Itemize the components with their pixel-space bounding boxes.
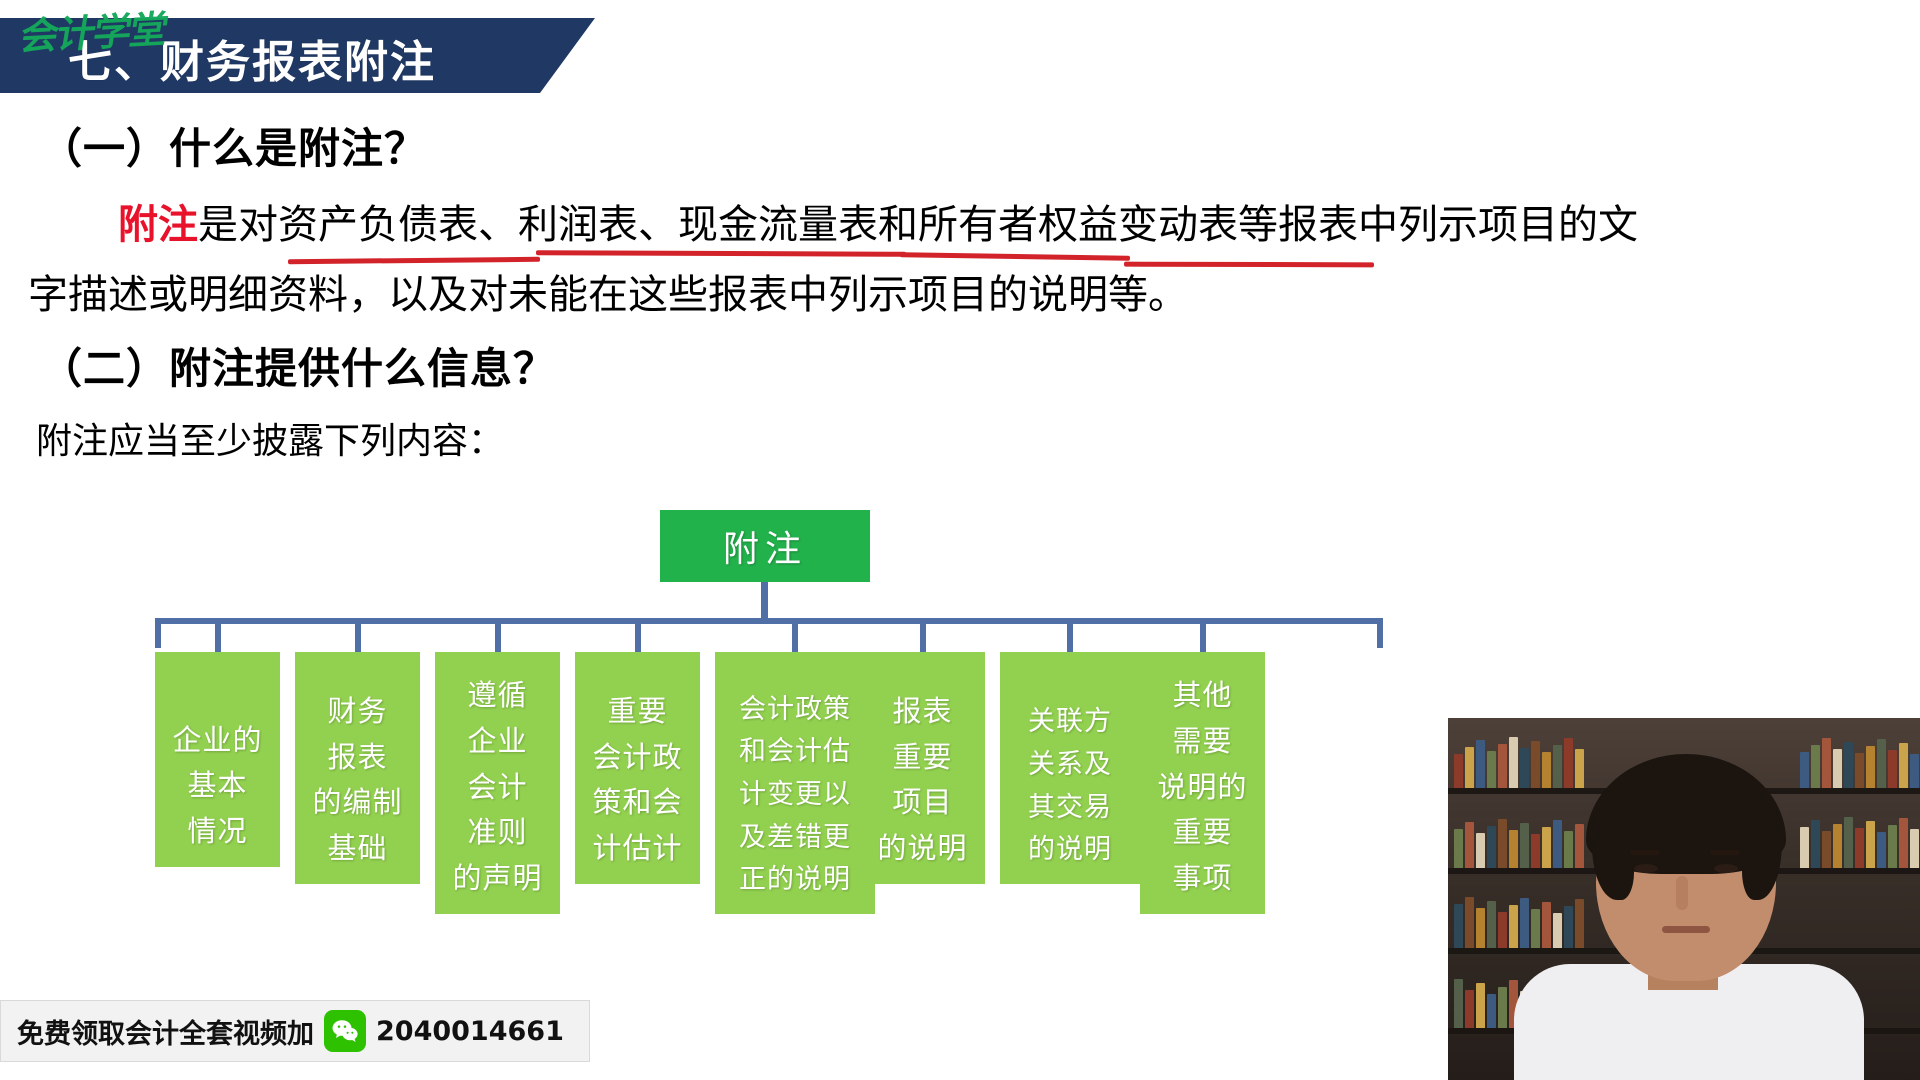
connector-root-stem bbox=[761, 582, 768, 620]
promo-wechat-id: 2040014661 bbox=[376, 1016, 564, 1047]
diagram-leaf-line: 重要 bbox=[864, 735, 981, 781]
slide-top-edge bbox=[0, 0, 1920, 18]
heading-section-two: （二）附注提供什么信息？ bbox=[40, 335, 556, 396]
paragraph-line-2: 字描述或明细资料，以及对未能在这些报表中列示项目的说明等。 bbox=[28, 262, 1188, 320]
book-spine bbox=[1575, 899, 1584, 948]
book-spine bbox=[1811, 745, 1820, 788]
book-spine bbox=[1877, 832, 1886, 868]
book-spine bbox=[1454, 979, 1463, 1028]
book-spine bbox=[1822, 738, 1831, 788]
book-spine bbox=[1844, 742, 1853, 788]
book-spine bbox=[1498, 819, 1507, 868]
diagram-leaf-line: 项目 bbox=[864, 780, 981, 826]
book-spine bbox=[1553, 745, 1562, 788]
book-spine bbox=[1520, 748, 1529, 788]
book-spine bbox=[1498, 744, 1507, 788]
diagram-leaf-line: 其交易 bbox=[1004, 787, 1136, 830]
book-spine bbox=[1822, 831, 1831, 868]
promo-text: 免费领取会计全套视频加 bbox=[17, 1012, 314, 1051]
diagram-leaf-line: 重要 bbox=[579, 689, 696, 735]
diagram-leaf-line: 计估计 bbox=[579, 826, 696, 872]
book-spine bbox=[1520, 898, 1529, 948]
book-spine bbox=[1844, 817, 1853, 868]
book-spine bbox=[1454, 829, 1463, 868]
diagram-leaf-node: 遵循企业会计准则的声明 bbox=[435, 652, 560, 914]
book-spine bbox=[1454, 754, 1463, 788]
book-spine bbox=[1487, 994, 1496, 1028]
lead-in-text: 附注应当至少披露下列内容： bbox=[36, 412, 504, 464]
book-spine bbox=[1564, 906, 1573, 948]
book-spine bbox=[1531, 834, 1540, 868]
person-eye-right bbox=[1714, 864, 1738, 873]
connector-drop bbox=[635, 624, 641, 652]
book-spine bbox=[1800, 752, 1809, 788]
book-spine bbox=[1465, 747, 1474, 788]
diagram-leaf-line: 企业 bbox=[439, 719, 556, 765]
diagram-leaf-node: 其他需要说明的重要事项 bbox=[1140, 652, 1265, 914]
diagram-leaf-line: 情况 bbox=[159, 809, 276, 855]
book-spine bbox=[1531, 909, 1540, 948]
diagram-leaf-line: 其他 bbox=[1144, 673, 1261, 719]
book-spine bbox=[1531, 741, 1540, 788]
diagram-leaf-line: 重要 bbox=[1144, 810, 1261, 856]
book-spine bbox=[1542, 752, 1551, 788]
diagram-leaf-line: 计变更以 bbox=[719, 774, 871, 817]
connector-bus-cap-left bbox=[155, 618, 161, 648]
book-spine bbox=[1487, 751, 1496, 788]
diagram-leaf-line: 正的说明 bbox=[719, 859, 871, 902]
diagram-leaf-node: 重要会计政策和会计估计 bbox=[575, 652, 700, 884]
diagram-leaf-line: 报表 bbox=[299, 735, 416, 781]
brand-watermark: 会计学堂 bbox=[17, 0, 171, 61]
book-spine bbox=[1575, 749, 1584, 788]
book-spine bbox=[1542, 902, 1551, 948]
diagram-leaf-line: 需要 bbox=[1144, 719, 1261, 765]
diagram-leaf-line: 的编制 bbox=[299, 780, 416, 826]
book-spine bbox=[1542, 827, 1551, 868]
diagram-leaf-line: 报表 bbox=[864, 689, 981, 735]
book-spine bbox=[1487, 826, 1496, 868]
diagram-leaf-line: 策和会 bbox=[579, 780, 696, 826]
book-spine bbox=[1520, 823, 1529, 868]
book-spine bbox=[1509, 737, 1518, 788]
red-underline-segment bbox=[1124, 262, 1374, 268]
book-spine bbox=[1877, 739, 1886, 788]
book-spine bbox=[1476, 908, 1485, 948]
connector-drop bbox=[1067, 624, 1073, 652]
diagram-leaf-line: 会计政策 bbox=[719, 689, 871, 732]
highlighted-term: 附注 bbox=[118, 202, 198, 248]
diagram-leaf-line: 和会计估 bbox=[719, 731, 871, 774]
book-spine bbox=[1833, 749, 1842, 788]
book-spine bbox=[1509, 905, 1518, 948]
paragraph-line-1-rest: 是对资产负债表、利润表、现金流量表和所有者权益变动表等报表中列示项目的文 bbox=[198, 202, 1638, 248]
book-spine bbox=[1800, 827, 1809, 868]
book-spine bbox=[1866, 746, 1875, 788]
heading-section-one: （一）什么是附注？ bbox=[40, 115, 427, 176]
diagram-leaf-line: 会计 bbox=[439, 765, 556, 811]
book-spine bbox=[1575, 824, 1584, 868]
person-eyebrow-right bbox=[1710, 850, 1740, 855]
diagram-leaf-node: 会计政策和会计估计变更以及差错更正的说明 bbox=[715, 652, 875, 914]
diagram-leaf-line: 说明的 bbox=[1144, 765, 1261, 811]
book-spine bbox=[1910, 829, 1919, 868]
connector-drop bbox=[1200, 624, 1206, 652]
connector-drop bbox=[215, 624, 221, 652]
connector-drop bbox=[792, 624, 798, 652]
book-spine bbox=[1899, 743, 1908, 788]
book-spine bbox=[1553, 913, 1562, 948]
book-spine bbox=[1509, 830, 1518, 868]
book-spine bbox=[1888, 825, 1897, 868]
org-chart-diagram: 附注 企业的基本情况财务报表的编制基础遵循企业会计准则的声明重要会计政策和会计估… bbox=[0, 480, 1500, 940]
book-spine bbox=[1910, 754, 1919, 788]
book-spine bbox=[1899, 818, 1908, 868]
diagram-leaf-line: 的声明 bbox=[439, 856, 556, 902]
diagram-leaf-line: 企业的 bbox=[159, 718, 276, 764]
book-spine bbox=[1465, 897, 1474, 948]
diagram-root-node: 附注 bbox=[660, 510, 870, 582]
diagram-leaf-node: 企业的基本情况 bbox=[155, 652, 280, 867]
diagram-leaf-line: 关系及 bbox=[1004, 744, 1136, 787]
diagram-leaf-line: 基础 bbox=[299, 826, 416, 872]
book-spine bbox=[1476, 740, 1485, 788]
promo-banner: 免费领取会计全套视频加 2040014661 bbox=[0, 1000, 590, 1062]
wechat-icon bbox=[324, 1010, 366, 1052]
paragraph-line-1: 附注是对资产负债表、利润表、现金流量表和所有者权益变动表等报表中列示项目的文 bbox=[40, 192, 1638, 250]
connector-drop bbox=[920, 624, 926, 652]
red-underline-segment bbox=[900, 252, 1130, 261]
red-underline-segment bbox=[536, 250, 906, 257]
diagram-leaf-node: 财务报表的编制基础 bbox=[295, 652, 420, 884]
person-eyebrow-left bbox=[1630, 850, 1660, 855]
diagram-leaf-line: 关联方 bbox=[1004, 701, 1136, 744]
book-spine bbox=[1553, 820, 1562, 868]
book-spine bbox=[1811, 820, 1820, 868]
book-spine bbox=[1487, 901, 1496, 948]
connector-bus-cap-right bbox=[1377, 618, 1383, 648]
book-spine bbox=[1855, 753, 1864, 788]
book-spine bbox=[1888, 750, 1897, 788]
diagram-leaf-line: 会计政 bbox=[579, 735, 696, 781]
diagram-leaf-line: 及差错更 bbox=[719, 817, 871, 860]
connector-drop bbox=[355, 624, 361, 652]
diagram-leaf-line: 的说明 bbox=[1004, 829, 1136, 872]
book-spine bbox=[1498, 912, 1507, 948]
person-nose bbox=[1676, 876, 1688, 910]
diagram-leaf-line: 事项 bbox=[1144, 856, 1261, 902]
diagram-leaf-line: 基本 bbox=[159, 763, 276, 809]
person-mouth bbox=[1662, 926, 1710, 933]
book-spine bbox=[1454, 904, 1463, 948]
book-spine bbox=[1564, 738, 1573, 788]
diagram-leaf-line: 准则 bbox=[439, 810, 556, 856]
person-eye-left bbox=[1634, 864, 1658, 873]
book-spine bbox=[1498, 987, 1507, 1028]
diagram-leaf-line: 财务 bbox=[299, 689, 416, 735]
connector-drop bbox=[495, 624, 501, 652]
book-spine bbox=[1866, 821, 1875, 868]
diagram-leaf-line: 遵循 bbox=[439, 673, 556, 719]
book-spine bbox=[1465, 990, 1474, 1028]
presentation-slide: 七、财务报表附注 会计学堂 （一）什么是附注？ 附注是对资产负债表、利润表、现金… bbox=[0, 0, 1920, 1080]
book-spine bbox=[1855, 828, 1864, 868]
book-spine bbox=[1476, 983, 1485, 1028]
diagram-leaf-node: 关联方关系及其交易的说明 bbox=[1000, 652, 1140, 884]
book-spine bbox=[1465, 822, 1474, 868]
webcam-video-overlay[interactable] bbox=[1448, 718, 1920, 1080]
book-spine bbox=[1476, 833, 1485, 868]
diagram-leaf-node: 报表重要项目的说明 bbox=[860, 652, 985, 884]
book-spine bbox=[1564, 831, 1573, 868]
diagram-leaf-line: 的说明 bbox=[864, 826, 981, 872]
book-spine bbox=[1833, 824, 1842, 868]
